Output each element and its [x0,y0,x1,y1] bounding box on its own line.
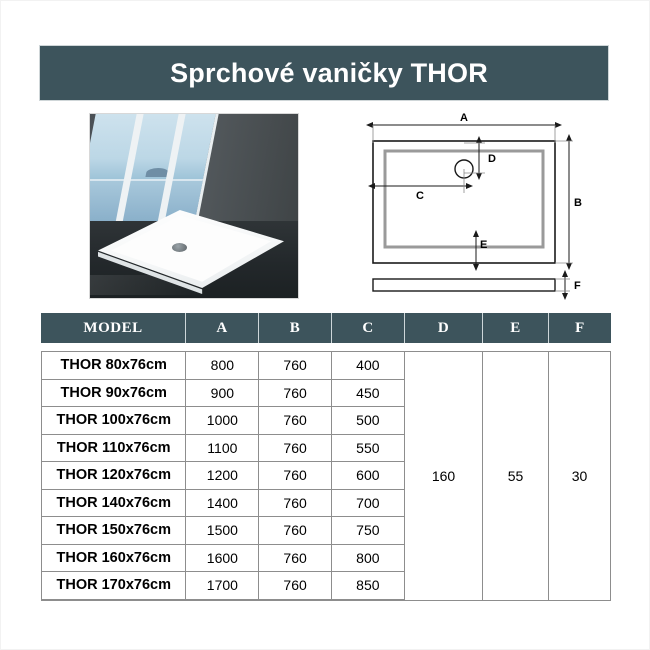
table-cell-model: THOR 80x76cm [42,352,186,379]
table-cell-c: 500 [332,407,405,434]
table-cell-model: THOR 110x76cm [42,435,186,462]
table-cell-b: 760 [259,352,332,379]
table-cell-merged-spacer [405,517,610,544]
technical-drawing-svg: A B D C E F [361,111,611,303]
table-cell-c: 600 [332,462,405,489]
table-row: THOR 90x76cm900760450 [42,380,610,408]
table-cell-b: 760 [259,462,332,489]
photo-tray-basin [98,210,284,288]
table-cell-a: 1000 [186,407,259,434]
photo-shower-tray [98,210,284,296]
table-cell-model: THOR 90x76cm [42,380,186,407]
table-cell-b: 760 [259,380,332,407]
table-cell-model: THOR 120x76cm [42,462,186,489]
table-cell-model: THOR 140x76cm [42,490,186,517]
table-row: THOR 100x76cm1000760500 [42,407,610,435]
drawing-label-d: D [488,153,496,165]
column-header-f: F [549,313,611,343]
table-cell-merged-spacer [405,572,610,599]
table-cell-a: 1700 [186,572,259,599]
table-cell-merged-spacer [405,352,610,379]
drawing-label-a: A [460,112,468,124]
table-cell-c: 700 [332,490,405,517]
page-title: Sprchové vaničky THOR [160,58,488,89]
page-title-banner: Sprchové vaničky THOR [39,45,609,101]
table-cell-a: 1400 [186,490,259,517]
drawing-side-profile [373,279,555,291]
column-header-a: A [186,313,259,343]
table-cell-a: 1600 [186,545,259,572]
table-cell-model: THOR 100x76cm [42,407,186,434]
table-cell-b: 760 [259,435,332,462]
column-header-d: D [405,313,483,343]
column-header-b: B [259,313,332,343]
table-row: THOR 140x76cm1400760700 [42,490,610,518]
table-cell-a: 1100 [186,435,259,462]
table-cell-c: 750 [332,517,405,544]
table-cell-c: 850 [332,572,405,599]
table-cell-b: 760 [259,490,332,517]
table-cell-merged-spacer [405,407,610,434]
table-cell-c: 450 [332,380,405,407]
drawing-label-e: E [480,239,487,251]
table-cell-a: 900 [186,380,259,407]
table-cell-b: 760 [259,545,332,572]
table-cell-model: THOR 170x76cm [42,572,186,599]
table-cell-merged-spacer [405,380,610,407]
table-row: THOR 170x76cm1700760850 [42,572,610,600]
table-row: THOR 160x76cm1600760800 [42,545,610,573]
column-header-c: C [332,313,405,343]
column-header-model: MODEL [41,313,186,343]
table-cell-c: 550 [332,435,405,462]
specification-table: MODEL A B C D E F THOR 80x76cm800760400T… [41,313,611,601]
table-cell-a: 1500 [186,517,259,544]
photo-horizon [89,179,203,181]
table-cell-merged-spacer [405,462,610,489]
table-cell-model: THOR 150x76cm [42,517,186,544]
drawing-label-c: C [416,190,424,202]
table-cell-b: 760 [259,517,332,544]
table-header-row: MODEL A B C D E F [41,313,611,343]
table-cell-c: 800 [332,545,405,572]
table-cell-merged-spacer [405,490,610,517]
table-cell-merged-spacer [405,545,610,572]
table-row: THOR 150x76cm1500760750 [42,517,610,545]
table-cell-c: 400 [332,352,405,379]
table-body: THOR 80x76cm800760400THOR 90x76cm9007604… [41,351,611,601]
drawing-label-f: F [574,280,581,292]
table-row: THOR 80x76cm800760400 [42,352,610,380]
table-cell-b: 760 [259,407,332,434]
table-cell-b: 760 [259,572,332,599]
table-cell-model: THOR 160x76cm [42,545,186,572]
drawing-label-b: B [574,197,582,209]
table-cell-a: 1200 [186,462,259,489]
table-row: THOR 110x76cm1100760550 [42,435,610,463]
column-header-e: E [483,313,549,343]
table-row: THOR 120x76cm1200760600 [42,462,610,490]
table-cell-merged-spacer [405,435,610,462]
photo-tray-drain [172,243,187,252]
product-spec-sheet: Sprchové vaničky THOR [0,0,650,650]
technical-drawing: A B D C E F [361,111,611,303]
table-cell-a: 800 [186,352,259,379]
product-photo [89,113,299,299]
